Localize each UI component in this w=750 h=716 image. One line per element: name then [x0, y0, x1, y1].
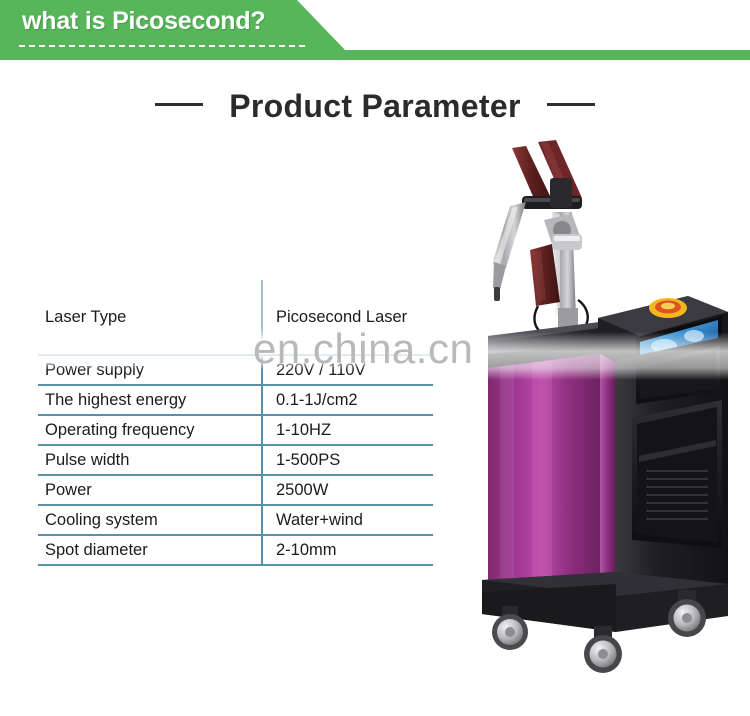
- banner-title: what is Picosecond?: [22, 7, 265, 36]
- title-rule-left: [155, 103, 203, 106]
- param-value: 1-500PS: [262, 445, 433, 475]
- param-value: 1-10HZ: [262, 415, 433, 445]
- param-name: Power supply: [38, 355, 262, 385]
- param-name: Operating frequency: [38, 415, 262, 445]
- param-name: Laser Type: [38, 280, 262, 355]
- param-value: 2500W: [262, 475, 433, 505]
- param-name: Spot diameter: [38, 535, 262, 565]
- table-row: Laser Type Picosecond Laser: [38, 280, 433, 355]
- param-value: Picosecond Laser: [262, 280, 433, 355]
- table-row: Pulse width 1-500PS: [38, 445, 433, 475]
- banner-dashed-underline: [19, 45, 305, 47]
- param-name: The highest energy: [38, 385, 262, 415]
- table-row: Power 2500W: [38, 475, 433, 505]
- param-name: Pulse width: [38, 445, 262, 475]
- page-banner: what is Picosecond?: [0, 0, 750, 62]
- product-parameter-table: Laser Type Picosecond Laser Power supply…: [38, 280, 433, 566]
- param-value: 0.1-1J/cm2: [262, 385, 433, 415]
- page-title-block: Product Parameter: [0, 88, 750, 125]
- picosecond-laser-machine-image: [440, 140, 750, 680]
- table-row: Cooling system Water+wind: [38, 505, 433, 535]
- param-value: 220V / 110V: [262, 355, 433, 385]
- param-value: Water+wind: [262, 505, 433, 535]
- table-row: Operating frequency 1-10HZ: [38, 415, 433, 445]
- haze-band: [440, 332, 750, 380]
- articulated-arm: [492, 140, 588, 338]
- param-name: Cooling system: [38, 505, 262, 535]
- param-value: 2-10mm: [262, 535, 433, 565]
- page-title: Product Parameter: [229, 88, 520, 125]
- table-row: Spot diameter 2-10mm: [38, 535, 433, 565]
- table-body: Laser Type Picosecond Laser Power supply…: [38, 280, 433, 565]
- table-row: Power supply 220V / 110V: [38, 355, 433, 385]
- param-name: Power: [38, 475, 262, 505]
- title-rule-right: [547, 103, 595, 106]
- table-row: The highest energy 0.1-1J/cm2: [38, 385, 433, 415]
